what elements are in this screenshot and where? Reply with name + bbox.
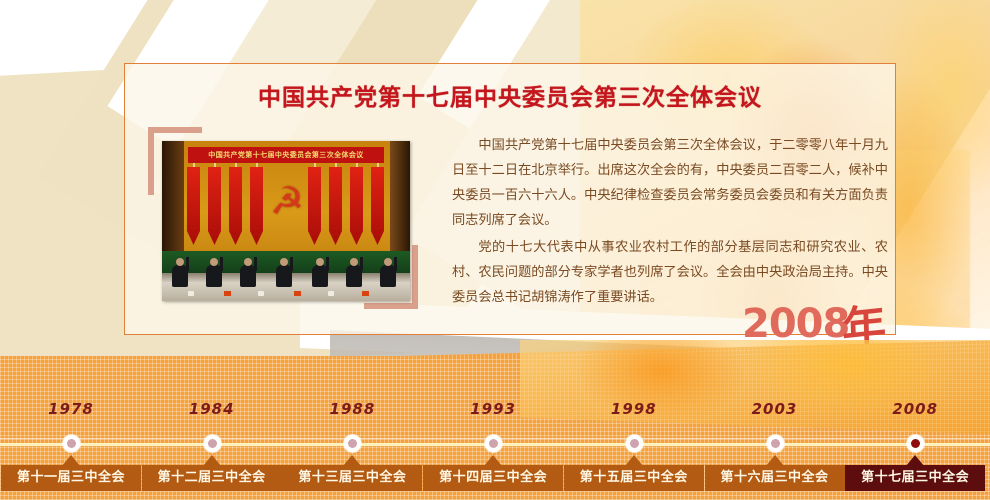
page-root: 中国共产党第十七届中央委员会第三次全体会议 中国共产党第十七届中央委员会第三次全… <box>0 0 990 500</box>
timeline-year-label: 2003 <box>705 400 845 418</box>
photo-figure: 中国共产党第十七届中央委员会第三次全体会议 ☭ <box>148 127 418 309</box>
timeline-year-label: 1984 <box>142 400 282 418</box>
plenary-session-photo[interactable]: 中国共产党第十七届中央委员会第三次全体会议 ☭ <box>162 141 410 301</box>
red-flag-icon <box>371 167 384 245</box>
red-flag-icon <box>350 167 363 245</box>
photo-banner-text: 中国共产党第十七届中央委员会第三次全体会议 <box>188 147 384 163</box>
timeline-year-label: 1993 <box>423 400 563 418</box>
timeline-dot-icon[interactable] <box>485 435 502 452</box>
timeline-dot-core-icon <box>208 439 217 448</box>
red-flag-icon <box>308 167 321 245</box>
timeline-item-label[interactable]: 第十三届三中全会 <box>282 465 422 491</box>
article-body: 中国共产党第十七届中央委员会第三次全体会议，于二零零八年十月九日至十二日在北京举… <box>452 133 888 312</box>
timeline-year-label: 1988 <box>282 400 422 418</box>
timeline: 1978第十一届三中全会1984第十二届三中全会1988第十三届三中全会1993… <box>0 340 990 500</box>
hammer-sickle-emblem-icon: ☭ <box>266 179 308 223</box>
timeline-item-label[interactable]: 第十七届三中全会 <box>845 465 985 491</box>
timeline-dot-core-icon <box>348 439 357 448</box>
page-title: 中国共产党第十七届中央委员会第三次全体会议 <box>124 78 896 112</box>
red-flag-icon <box>208 167 221 245</box>
timeline-item-label[interactable]: 第十五届三中全会 <box>564 465 704 491</box>
timeline-dot-core-icon <box>67 439 76 448</box>
timeline-dot-icon[interactable] <box>63 435 80 452</box>
timeline-dot-core-icon <box>489 439 498 448</box>
photo-wall-left <box>162 141 184 269</box>
article-paragraph-1: 中国共产党第十七届中央委员会第三次全体会议，于二零零八年十月九日至十二日在北京举… <box>452 133 888 233</box>
timeline-dot-core-icon <box>630 439 639 448</box>
red-flag-icon <box>187 167 200 245</box>
timeline-dot-icon[interactable] <box>767 435 784 452</box>
timeline-item-label[interactable]: 第十六届三中全会 <box>705 465 845 491</box>
timeline-dot-icon[interactable] <box>204 435 221 452</box>
article-paragraph-2: 党的十七大代表中从事农业农村工作的部分基层同志和研究农业、农村、农民问题的部分专… <box>452 235 888 310</box>
timeline-item-label[interactable]: 第十二届三中全会 <box>142 465 282 491</box>
timeline-item-label[interactable]: 第十一届三中全会 <box>1 465 141 491</box>
timeline-dot-icon[interactable] <box>626 435 643 452</box>
red-flag-icon <box>229 167 242 245</box>
red-flag-icon <box>250 167 263 245</box>
timeline-dot-core-icon <box>911 439 920 448</box>
photo-wall-right <box>390 141 410 269</box>
timeline-dot-core-icon <box>771 439 780 448</box>
timeline-year-label: 1998 <box>564 400 704 418</box>
red-flag-icon <box>329 167 342 245</box>
timeline-year-label: 1978 <box>1 400 141 418</box>
timeline-year-label: 2008 <box>845 400 985 418</box>
timeline-item-label[interactable]: 第十四届三中全会 <box>423 465 563 491</box>
timeline-watermark-overlay-icon <box>520 340 990 434</box>
